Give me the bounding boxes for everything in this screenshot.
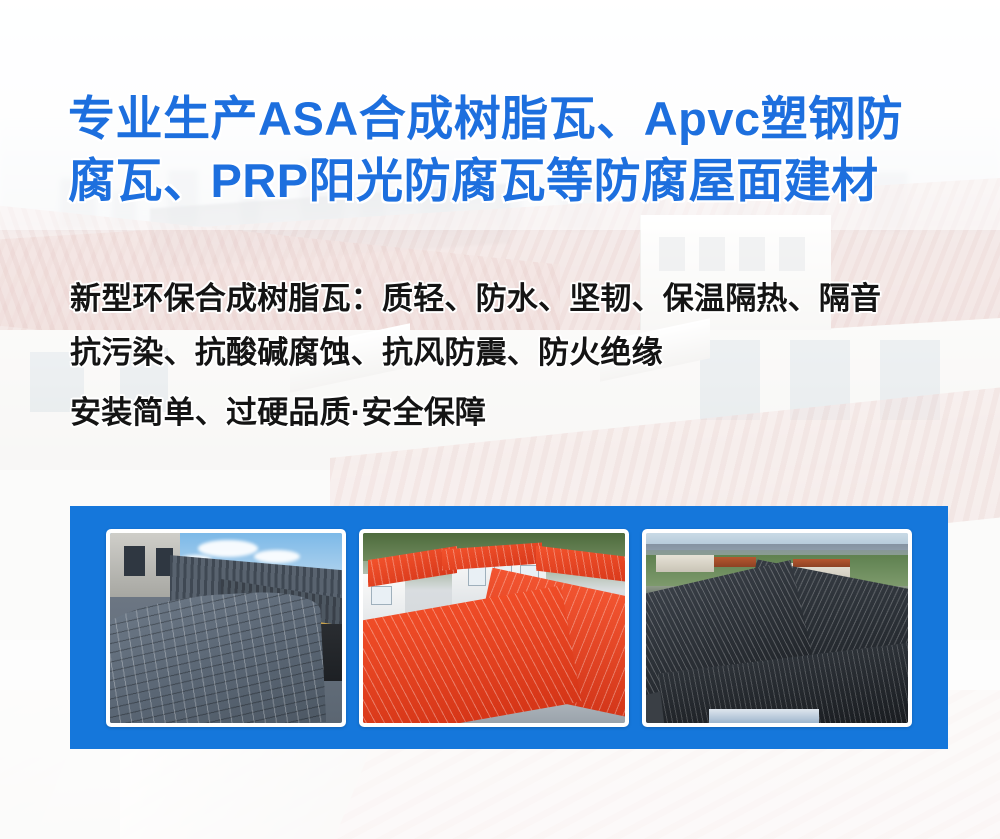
banner-headline: 专业生产ASA合成树脂瓦、Apvc塑钢防 腐瓦、PRP阳光防腐瓦等防腐屋面建材	[68, 88, 948, 212]
subheadline-line-2: 抗污染、抗酸碱腐蚀、抗风防震、防火绝缘	[70, 326, 960, 380]
gallery-card-2[interactable]	[359, 529, 629, 727]
headline-line-2: 腐瓦、PRP阳光防腐瓦等防腐屋面建材	[68, 150, 948, 212]
gallery-card-1[interactable]	[106, 529, 346, 727]
grey-tile-roof-photo	[110, 533, 342, 723]
subheadline-line-3: 安装简单、过硬品质·安全保障	[70, 386, 960, 440]
headline-line-1: 专业生产ASA合成树脂瓦、Apvc塑钢防	[68, 88, 948, 150]
gallery-card-3[interactable]	[642, 529, 912, 727]
subheadline-line-1: 新型环保合成树脂瓦：质轻、防水、坚韧、保温隔热、隔音	[70, 272, 960, 326]
dark-tile-roof-photo	[646, 533, 908, 723]
banner-content: 专业生产ASA合成树脂瓦、Apvc塑钢防 腐瓦、PRP阳光防腐瓦等防腐屋面建材 …	[0, 0, 1000, 839]
red-tile-roof-photo	[363, 533, 625, 723]
banner-subheadline: 新型环保合成树脂瓦：质轻、防水、坚韧、保温隔热、隔音 抗污染、抗酸碱腐蚀、抗风防…	[70, 272, 960, 440]
product-photo-gallery	[70, 506, 948, 749]
product-banner: 专业生产ASA合成树脂瓦、Apvc塑钢防 腐瓦、PRP阳光防腐瓦等防腐屋面建材 …	[0, 0, 1000, 839]
